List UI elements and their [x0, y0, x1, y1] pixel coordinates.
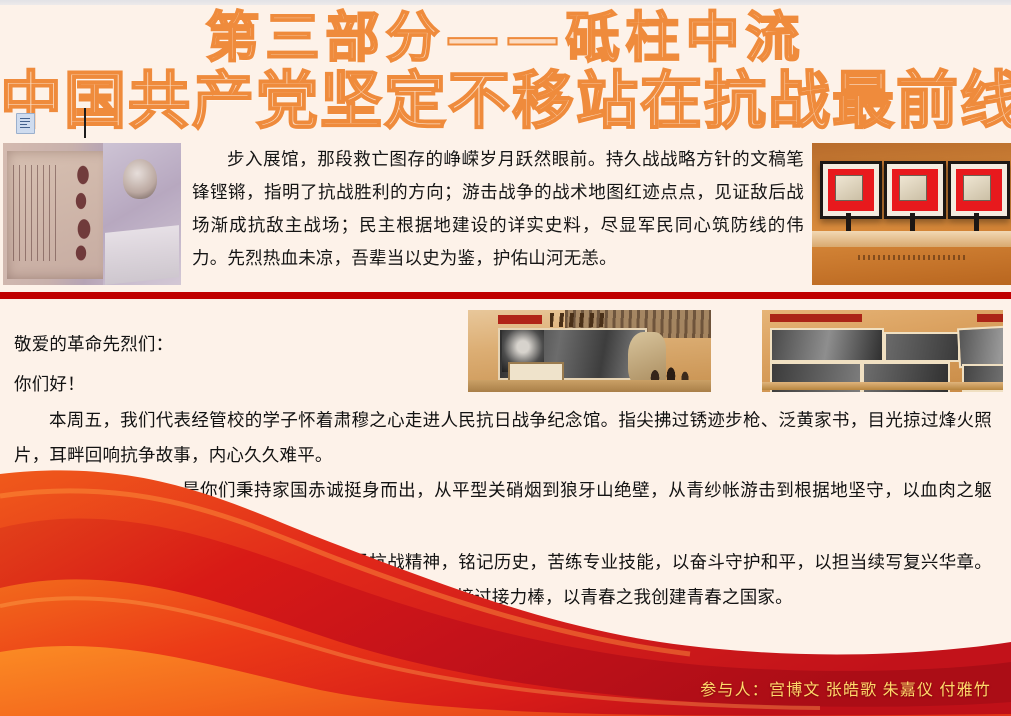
hall-headline-text	[550, 313, 606, 327]
wall-red-banner	[770, 314, 862, 322]
photo-content	[762, 310, 1003, 392]
exhibit-portrait	[103, 143, 181, 285]
intro-paragraph: 步入展馆，那段救亡图存的峥嵘岁月跃然眼前。持久战战略方针的文稿笔锋铿锵，指明了抗…	[192, 143, 804, 275]
slide-canvas: 第三部分——砥柱中流 中国共产党坚定不移站在抗战最前线 步入展馆，那段救亡图存的…	[0, 0, 1011, 716]
exhibit-text-columns	[13, 165, 61, 261]
letter-greeting: 你们好！	[14, 367, 444, 402]
museum-exhibit-on-protracted-war-photo	[3, 143, 181, 285]
case-caption-plaque	[858, 255, 968, 260]
letter-closing-2: 敬礼	[14, 667, 314, 702]
paste-icon-line	[20, 124, 27, 125]
photo-content	[812, 143, 1011, 285]
intro-section: 步入展馆，那段救亡图存的峥嵘岁月跃然眼前。持久战战略方针的文稿笔锋铿锵，指明了抗…	[0, 143, 1011, 285]
letter-salutation: 敬爱的革命先烈们：	[14, 327, 444, 362]
letter-paragraph-3: 身为新时代中专生，我们定会传承与弘扬抗战精神，铭记历史，苦练专业技能，以奋斗守护…	[14, 545, 992, 615]
framed-photo	[884, 332, 960, 362]
letter-section: 敬爱的革命先烈们： 你们好！ 本周五，我们代表经管校的学子怀着肃穆之心走进人民抗…	[0, 305, 1011, 716]
framed-documents-display-case-photo	[812, 143, 1011, 285]
portrait-desk	[105, 225, 179, 285]
letter-closing-1: 此致，	[14, 630, 314, 665]
participants-credit: 参与人：宫博文 张皓歌 朱嘉仪 付雅竹	[700, 676, 991, 700]
paste-icon-line	[20, 121, 30, 122]
exhibition-hall-mural-photo	[468, 310, 711, 392]
case-shelf	[812, 231, 1011, 247]
display-case	[884, 161, 946, 219]
photo-content	[3, 143, 181, 285]
display-case	[948, 161, 1010, 219]
portrait-head	[123, 159, 157, 199]
section-divider	[0, 292, 1011, 299]
framed-photo	[770, 328, 884, 362]
exhibit-calligraphy	[65, 161, 101, 261]
letter-paragraph-1: 本周五，我们代表经管校的学子怀着肃穆之心走进人民抗日战争纪念馆。指尖拂过锈迹步枪…	[14, 403, 992, 473]
paste-icon-line	[20, 127, 30, 128]
hall-red-sign	[498, 315, 542, 324]
photo-content	[468, 310, 711, 392]
wall-rail	[762, 382, 1003, 390]
framed-photo	[957, 324, 1003, 369]
letter-paragraph-2: 山河破碎之际，是你们秉持家国赤诚挺身而出，从平型关硝烟到狼牙山绝壁，从青纱帐游击…	[14, 473, 992, 543]
paste-icon-line	[20, 118, 30, 119]
case-stand	[846, 213, 851, 231]
hall-floor	[468, 380, 711, 392]
paste-options-icon[interactable]	[16, 113, 35, 134]
text-caret-icon	[84, 108, 86, 138]
historical-photo-wall-photo	[762, 310, 1003, 392]
case-stand	[910, 213, 915, 231]
display-case	[820, 161, 882, 219]
wall-red-banner	[977, 314, 1003, 322]
case-stand	[974, 213, 979, 231]
